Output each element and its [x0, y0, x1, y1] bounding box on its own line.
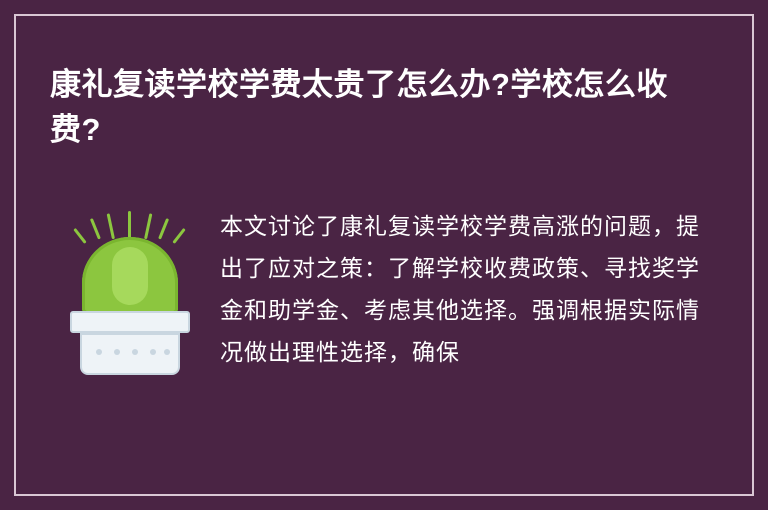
page-title: 康礼复读学校学费太贵了怎么办?学校怎么收费? [50, 62, 710, 152]
pot-rim [70, 311, 190, 333]
article-card: 康礼复读学校学费太贵了怎么办?学校怎么收费? 本文讨论了康礼复读学校学费高涨的问… [0, 0, 768, 510]
card-body: 本文讨论了康礼复读学校学费高涨的问题，提出了应对之策：了解学校收费政策、寻找奖学… [60, 205, 718, 375]
cactus-icon [60, 215, 200, 375]
cactus-body [82, 237, 178, 315]
summary-paragraph: 本文讨论了康礼复读学校学费高涨的问题，提出了应对之策：了解学校收费政策、寻找奖学… [220, 205, 718, 373]
pot-body [80, 333, 180, 375]
